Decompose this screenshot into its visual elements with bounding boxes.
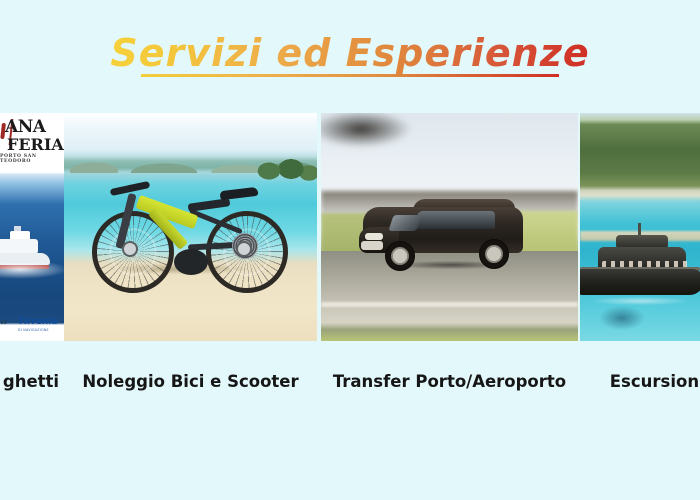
service-card-traghetti[interactable]: ANA FERIAS PORTO SAN TEODORO LINES Tirre… xyxy=(0,113,64,341)
ebike-beach-photo xyxy=(64,113,317,341)
ferry-photo: ANA FERIAS PORTO SAN TEODORO LINES Tirre… xyxy=(0,113,64,341)
bike-front-hub xyxy=(236,241,252,257)
service-image-strip: ANA FERIAS PORTO SAN TEODORO LINES Tirre… xyxy=(0,113,700,341)
logo-line1: ANA xyxy=(5,117,45,137)
service-card-escursioni[interactable] xyxy=(580,113,700,341)
tirrenia-logo: LINES Tirrenia DI NAVIGAZIONE xyxy=(0,317,64,337)
logo-line3: PORTO SAN TEODORO xyxy=(0,154,62,164)
bike-motor xyxy=(174,249,208,275)
page-title-container: Servizi ed Esperienze xyxy=(0,34,700,76)
ebike-shape xyxy=(92,171,292,291)
van-rear-wheel xyxy=(479,239,509,269)
tirrenia-subtitle: DI NAVIGAZIONE xyxy=(18,328,49,332)
van-windshield xyxy=(388,215,421,231)
boat-hull xyxy=(580,269,700,295)
caption-escursioni: Escursioni A Madd xyxy=(580,371,700,393)
tirrenia-other-label: LINES xyxy=(0,320,7,325)
caption-noleggio-bici: Noleggio Bici e Scooter xyxy=(64,371,317,393)
ferry-deck xyxy=(0,239,38,254)
service-captions: ghetti Noleggio Bici e Scooter Transfer … xyxy=(0,341,700,431)
caption-escursioni-line1: Escursioni A xyxy=(610,372,700,391)
ferry-wake xyxy=(0,263,64,279)
caption-transfer: Transfer Porto/Aeroporto xyxy=(321,371,578,393)
page-title: Servizi ed Esperienze xyxy=(104,34,595,76)
motion-blur-foliage xyxy=(321,113,441,161)
service-card-transfer[interactable] xyxy=(321,113,578,341)
tirrenia-name: Tirrenia xyxy=(18,317,58,327)
service-card-noleggio-bici[interactable] xyxy=(64,113,317,341)
slide-canvas: Servizi ed Esperienze ANA FERIAS PORTO S… xyxy=(0,0,700,500)
logo-line2: FERIAS xyxy=(7,135,64,154)
van-road-photo xyxy=(321,113,578,341)
van-headlight xyxy=(365,233,383,240)
excursion-boat-photo xyxy=(580,113,700,341)
van-shape xyxy=(363,197,531,271)
bike-seat-tube xyxy=(188,198,231,212)
boat-wake xyxy=(580,295,700,307)
bike-rear-hub xyxy=(122,241,138,257)
bike-saddle xyxy=(220,187,259,201)
van-grille xyxy=(361,241,383,250)
van-front-wheel xyxy=(385,241,415,271)
ana-ferias-logo: ANA FERIAS PORTO SAN TEODORO xyxy=(0,115,62,167)
road-line-marking xyxy=(321,302,578,307)
van-side-windows xyxy=(417,211,495,229)
excursion-boat-shape xyxy=(580,231,700,303)
title-underline xyxy=(141,74,559,77)
